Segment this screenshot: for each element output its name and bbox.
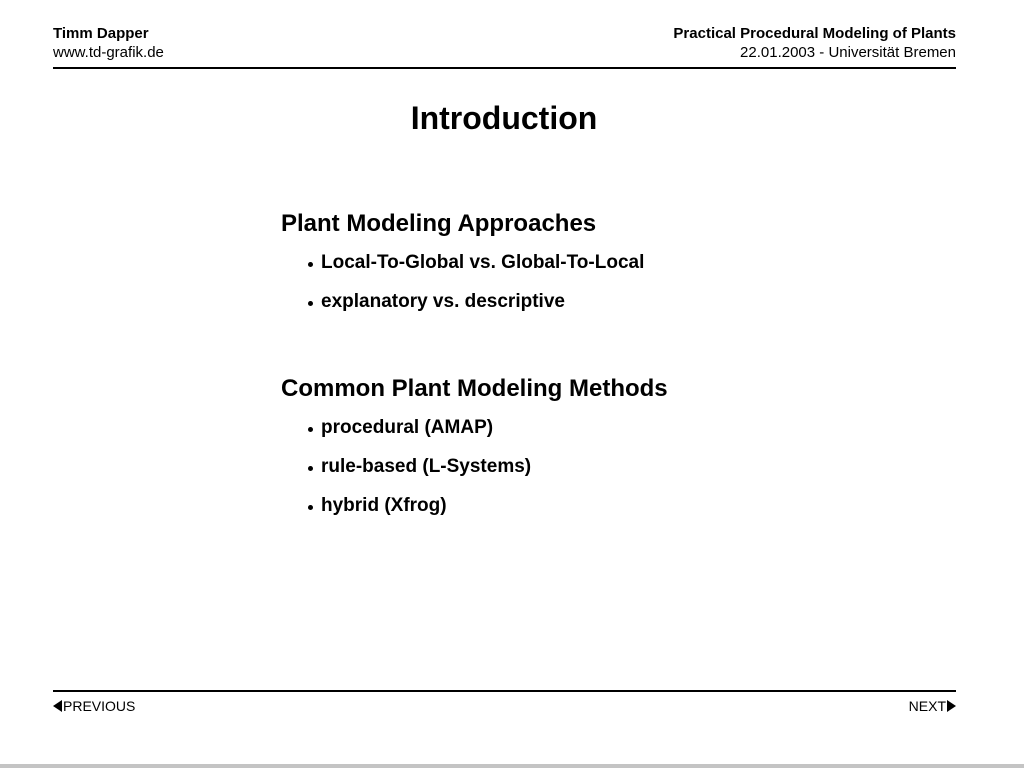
list-item-label: hybrid (Xfrog) [321,495,447,516]
presentation-slide: Timm Dapper www.td-grafik.de Practical P… [0,0,1024,768]
presentation-title: Practical Procedural Modeling of Plants [673,24,956,43]
bullet-point-icon [308,505,313,510]
previous-slide-link[interactable]: PREVIOUS [53,697,135,715]
triangle-right-icon [947,700,956,712]
next-slide-label: NEXT [909,697,946,715]
header-presentation-block: Practical Procedural Modeling of Plants … [673,24,956,63]
bottom-edge-band [0,764,1024,768]
author-website: www.td-grafik.de [53,43,164,63]
bullet-list: procedural (AMAP) rule-based (L-Systems)… [281,416,961,518]
bullet-point-icon [308,427,313,432]
section-common-plant-modeling-methods: Common Plant Modeling Methods procedural… [281,373,961,518]
bullet-point-icon [308,262,313,267]
author-name: Timm Dapper [53,24,164,43]
bullet-point-icon [308,301,313,306]
list-item-label: procedural (AMAP) [321,417,493,438]
section-plant-modeling-approaches: Plant Modeling Approaches Local-To-Globa… [281,208,961,314]
next-slide-link[interactable]: NEXT [909,697,956,715]
triangle-left-icon [53,700,62,712]
page-title: Introduction [0,99,1008,137]
slide-footer: PREVIOUS NEXT [53,695,956,717]
bullet-point-icon [308,466,313,471]
list-item-label: Local-To-Global vs. Global-To-Local [321,252,644,273]
list-item: Local-To-Global vs. Global-To-Local [281,251,961,275]
header-author-block: Timm Dapper www.td-grafik.de [53,24,164,63]
previous-slide-label: PREVIOUS [63,697,135,715]
section-heading: Plant Modeling Approaches [281,208,961,240]
list-item: procedural (AMAP) [281,416,961,440]
section-heading: Common Plant Modeling Methods [281,373,961,405]
list-item-label: explanatory vs. descriptive [321,291,565,312]
slide-header: Timm Dapper www.td-grafik.de Practical P… [53,24,956,69]
list-item: explanatory vs. descriptive [281,290,961,314]
footer-divider [53,690,956,692]
bullet-list: Local-To-Global vs. Global-To-Local expl… [281,251,961,314]
header-divider [53,67,956,69]
slide-content: Plant Modeling Approaches Local-To-Globa… [281,208,961,518]
list-item: hybrid (Xfrog) [281,494,961,518]
presentation-event: 22.01.2003 - Universität Bremen [740,43,956,63]
list-item-label: rule-based (L-Systems) [321,456,531,477]
list-item: rule-based (L-Systems) [281,455,961,479]
